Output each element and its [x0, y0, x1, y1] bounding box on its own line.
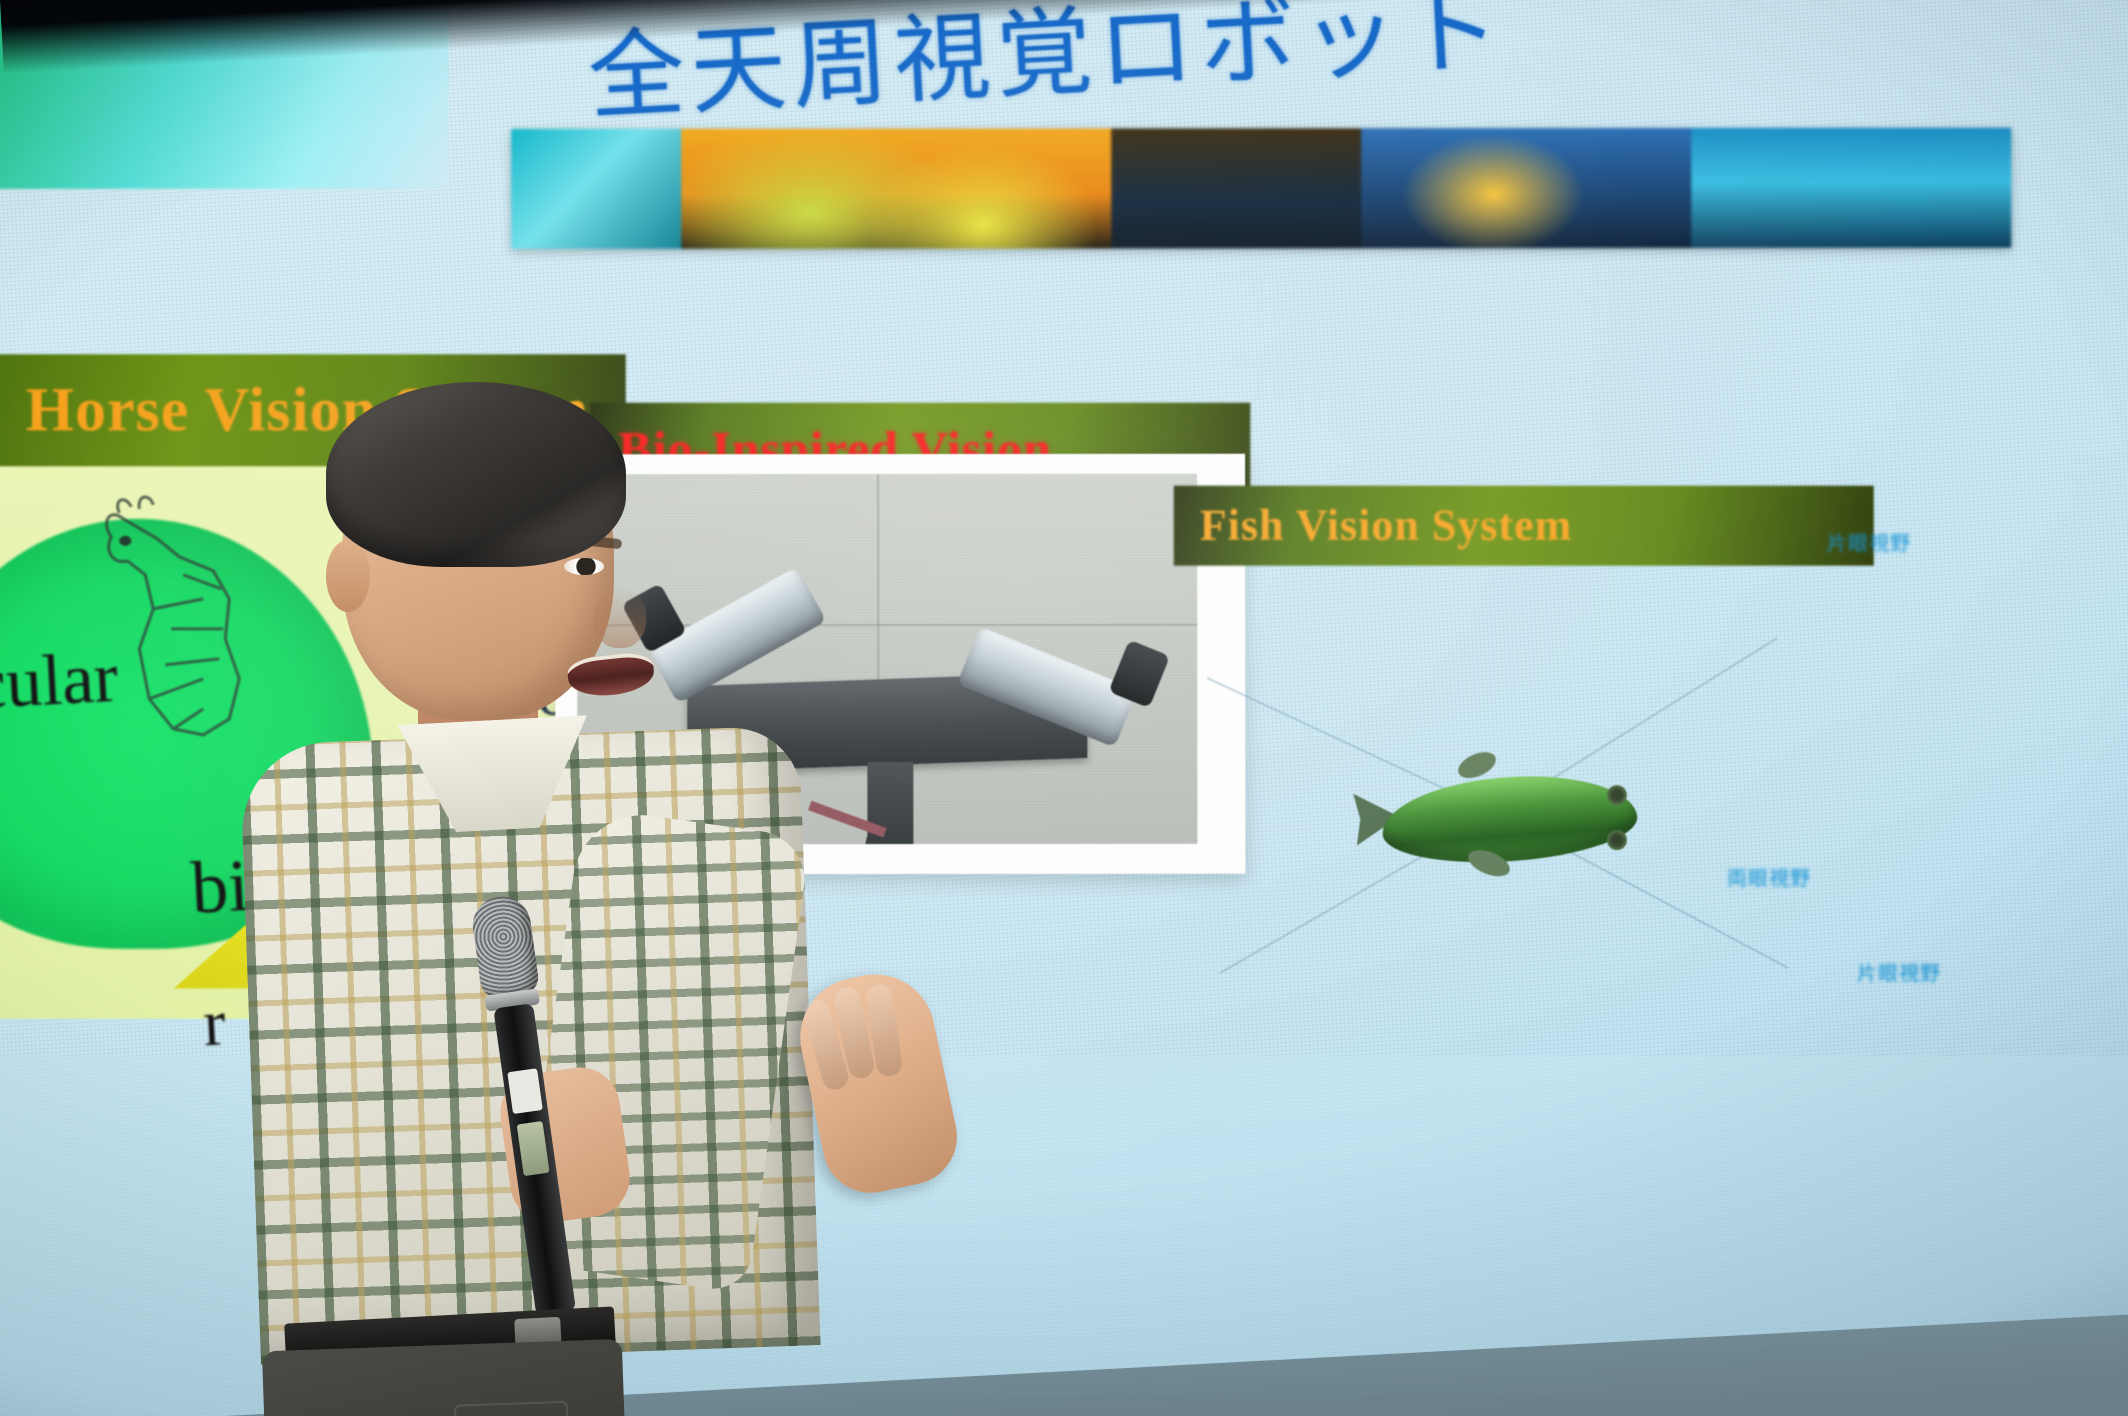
filmstrip-cell-blue	[1361, 128, 1691, 248]
filmstrip-cell-teal	[511, 129, 681, 249]
fish-eye-right	[1607, 830, 1627, 850]
speaker-ear	[326, 540, 370, 612]
filmstrip-band	[511, 128, 2011, 249]
speaker-nose	[594, 588, 646, 648]
screenshot-stage: 全天周視覚ロボット	[0, 0, 2128, 1416]
filmstrip-cell-orange	[681, 128, 1111, 248]
fish-eye-left	[1607, 785, 1627, 805]
fish-label-binocular: 両眼視野	[1727, 862, 1811, 891]
filmstrip-cell-cyan	[1691, 128, 2011, 248]
speaker-mouth	[566, 651, 656, 700]
speaker-open-hand	[789, 963, 966, 1201]
speaker-trousers	[262, 1339, 638, 1416]
fish-label-monocular-upper: 片眼視野	[1827, 527, 1911, 556]
microphone-label-tag	[507, 1068, 543, 1114]
speaker-figure	[250, 390, 970, 1416]
label-partial-r: r	[201, 986, 227, 1063]
fish-body	[1379, 768, 1639, 870]
trouser-pocket-right	[454, 1401, 570, 1416]
speaker-hair	[326, 382, 626, 567]
fish-vision-panel: 片眼視野 両眼視野 片眼視野	[1167, 492, 2027, 1052]
speaker-eye-right	[564, 558, 604, 575]
filmstrip-cell-dark	[1111, 128, 1361, 248]
fish-label-monocular-lower: 片眼視野	[1857, 957, 1941, 986]
